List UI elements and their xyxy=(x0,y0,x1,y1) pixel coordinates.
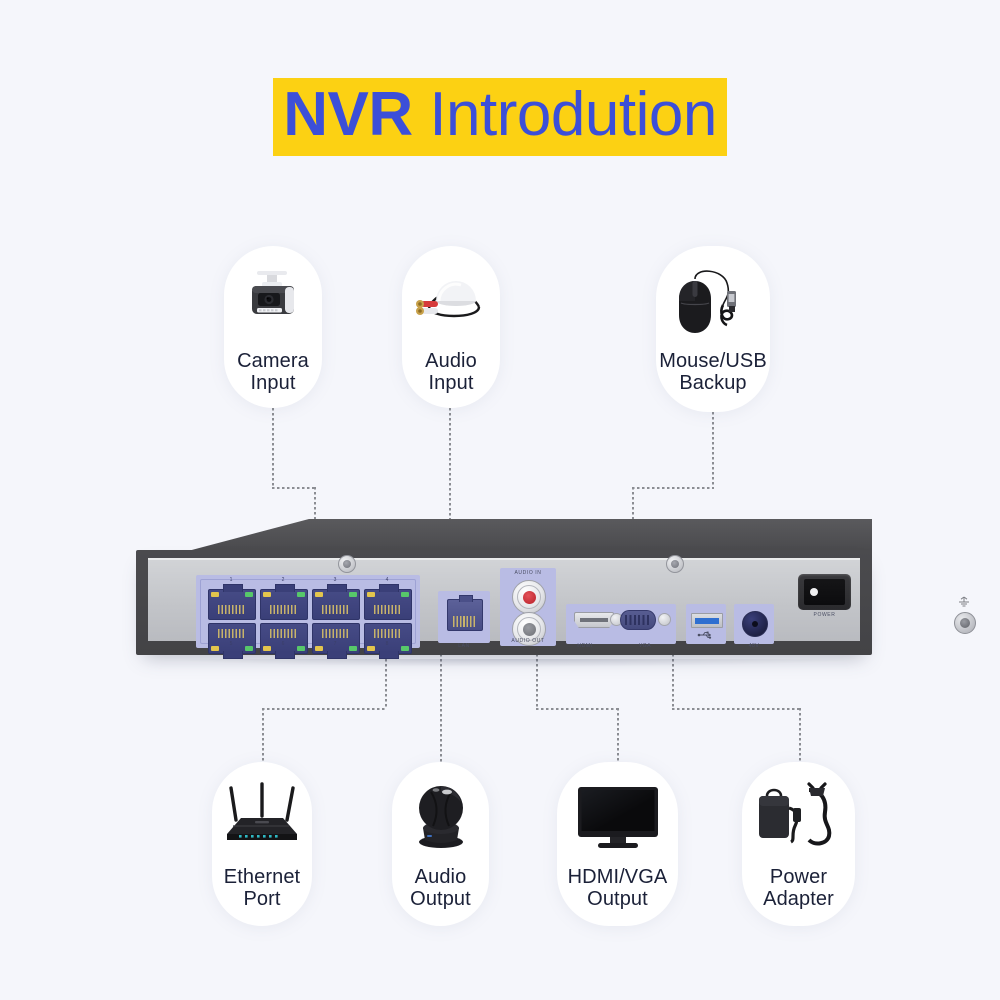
callout-card-audio-output[interactable]: Audio Output xyxy=(392,762,489,926)
poe-port-number-3: 3 xyxy=(328,577,342,583)
connector-mouse-vertical-1 xyxy=(712,412,714,488)
connector-power-horizontal xyxy=(672,708,800,710)
connector-hdmi-vertical-2 xyxy=(617,708,619,762)
connector-camera-vertical-1 xyxy=(272,408,274,488)
poe-port-number-7: 7 xyxy=(328,641,342,647)
callout-label-ethernet-port: Ethernet Port xyxy=(224,866,300,911)
poe-port-block[interactable]: 1 2 3 4 5 6 7 8 xyxy=(196,575,420,648)
callout-label-line1: Power xyxy=(770,866,827,888)
poe-port-6[interactable] xyxy=(260,623,308,654)
poe-port-8[interactable] xyxy=(364,623,412,654)
callout-label-audio-output: Audio Output xyxy=(410,866,471,911)
callout-label-line1: HDMI/VGA xyxy=(568,866,668,888)
title-regular-text: Introdution xyxy=(413,80,717,149)
speaker-icon xyxy=(392,770,489,862)
callout-label-camera-input: Camera Input xyxy=(237,350,309,395)
audio-in-label: AUDIO IN xyxy=(500,570,556,576)
callout-card-audio-input[interactable]: Audio Input xyxy=(402,246,500,408)
nvr-drop-shadow xyxy=(170,659,858,667)
poe-port-3[interactable] xyxy=(312,589,360,620)
power-switch[interactable] xyxy=(798,574,851,610)
connector-camera-horizontal xyxy=(272,487,316,489)
poe-port-number-4: 4 xyxy=(380,577,394,583)
poe-port-7[interactable] xyxy=(312,623,360,654)
callout-card-mouse-usb-backup[interactable]: Mouse/USB Backup xyxy=(656,246,770,412)
callout-card-camera-input[interactable]: Camera Input xyxy=(224,246,322,408)
vga-screw-right xyxy=(658,613,671,626)
callout-label-hdmi-vga-output: HDMI/VGA Output xyxy=(568,866,668,911)
callout-label-line1: Ethernet xyxy=(224,866,300,888)
callout-label-line2: Output xyxy=(410,888,471,910)
infographic-canvas: NVR Introdution xyxy=(0,0,1000,1000)
poe-port-number-8: 8 xyxy=(380,641,394,647)
usb-port-block[interactable] xyxy=(686,604,726,644)
callout-label-line2: Port xyxy=(224,888,300,910)
poe-port-number-1: 1 xyxy=(224,577,238,583)
usb-port[interactable] xyxy=(691,613,723,628)
dc-input-label: 48V xyxy=(734,643,774,649)
connector-ethernet-horizontal xyxy=(262,708,387,710)
callout-label-mouse-usb-backup: Mouse/USB Backup xyxy=(659,350,767,395)
callout-label-line2: Backup xyxy=(659,372,767,394)
hdmi-port-label: HDMI xyxy=(568,643,602,649)
lan-port[interactable] xyxy=(438,591,490,643)
lan-port-label: LAN xyxy=(438,643,490,649)
connector-audio-out-vertical xyxy=(440,654,442,762)
callout-label-line1: Camera xyxy=(237,350,309,372)
chassis-screw-right xyxy=(666,555,684,573)
dc-power-input[interactable] xyxy=(734,604,774,644)
monitor-icon xyxy=(557,770,678,862)
callout-label-line2: Output xyxy=(568,888,668,910)
title-bold-text: NVR xyxy=(283,80,412,149)
dc-jack[interactable] xyxy=(742,611,768,637)
callout-label-line2: Input xyxy=(425,372,477,394)
microphone-icon xyxy=(402,254,500,346)
callout-label-line1: Audio xyxy=(415,866,467,888)
usb-symbol-icon xyxy=(697,630,715,640)
poe-port-number-2: 2 xyxy=(276,577,290,583)
callout-label-line1: Audio xyxy=(425,350,477,372)
connector-ethernet-vertical-2 xyxy=(262,708,264,762)
connector-mouse-horizontal xyxy=(632,487,714,489)
nvr-rear-panel: 1 2 3 4 5 6 7 8 LAN xyxy=(136,519,872,664)
callout-card-hdmi-vga-output[interactable]: HDMI/VGA Output xyxy=(557,762,678,926)
poe-port-number-6: 6 xyxy=(276,641,290,647)
audio-out-label: AUDIO OUT xyxy=(498,638,558,644)
vga-port[interactable] xyxy=(620,610,656,630)
chassis-screw-left xyxy=(338,555,356,573)
audio-jack-block[interactable] xyxy=(500,568,556,646)
callout-label-line2: Adapter xyxy=(763,888,834,910)
mouse-icon xyxy=(656,254,770,346)
audio-in-jack[interactable] xyxy=(512,580,546,614)
connector-hdmi-horizontal xyxy=(536,708,618,710)
hdmi-port[interactable] xyxy=(574,612,614,628)
callout-card-power-adapter[interactable]: Power Adapter xyxy=(742,762,855,926)
callout-card-ethernet-port[interactable]: Ethernet Port xyxy=(212,762,312,926)
callout-label-power-adapter: Power Adapter xyxy=(763,866,834,911)
callout-label-line2: Input xyxy=(237,372,309,394)
bullet-camera-icon xyxy=(224,254,322,346)
vga-port-label: VGA xyxy=(628,643,662,649)
poe-port-2[interactable] xyxy=(260,589,308,620)
ground-screw xyxy=(954,612,976,634)
poe-port-1[interactable] xyxy=(208,589,256,620)
nvr-rear-face: 1 2 3 4 5 6 7 8 LAN xyxy=(148,558,860,641)
callout-label-line1: Mouse/USB xyxy=(659,350,767,372)
power-adapter-icon xyxy=(742,770,855,862)
poe-port-4[interactable] xyxy=(364,589,412,620)
nvr-chassis: 1 2 3 4 5 6 7 8 LAN xyxy=(136,550,872,655)
poe-port-5[interactable] xyxy=(208,623,256,654)
poe-port-number-5: 5 xyxy=(224,641,238,647)
callout-label-audio-input: Audio Input xyxy=(425,350,477,395)
router-icon xyxy=(212,770,312,862)
ground-symbol-icon xyxy=(952,596,976,608)
title-highlight-band: NVR Introdution xyxy=(273,78,727,156)
power-switch-label: POWER xyxy=(798,612,851,618)
connector-power-vertical-2 xyxy=(799,708,801,762)
page-title: NVR Introdution xyxy=(0,78,1000,156)
hdmi-vga-block[interactable] xyxy=(566,604,676,644)
